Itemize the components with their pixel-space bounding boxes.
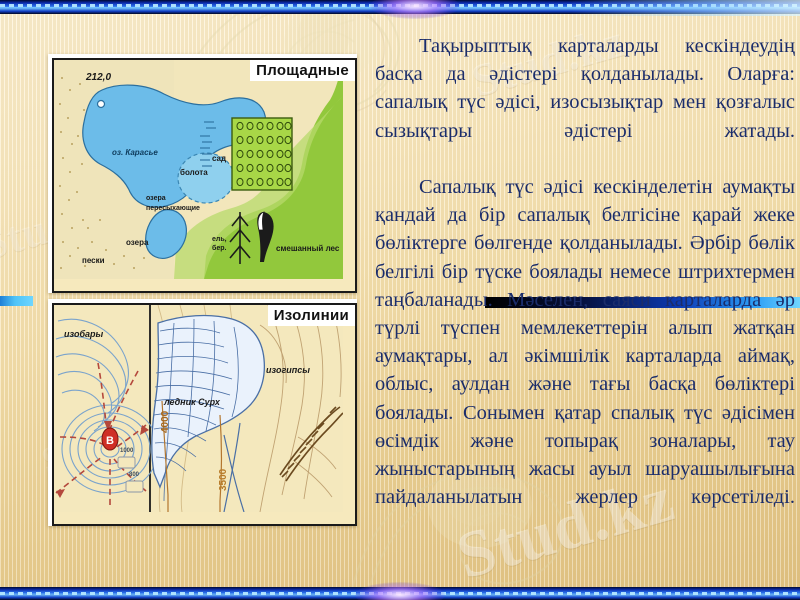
- label-pressure-1000: 1000: [120, 448, 133, 454]
- label-mixed-forest: смешанный лес: [276, 244, 339, 253]
- bottom-accent-dashes: [0, 592, 800, 595]
- slide: Stud.kz Stud.kz Stud.kz Stud.kz Stud.kz: [0, 0, 800, 600]
- figure-area-symbols-caption: Площадные: [250, 60, 355, 81]
- label-lake-karasye: оз. Карасье: [112, 148, 158, 157]
- label-lakes-drying: озера пересыхающие: [146, 194, 200, 214]
- top-accent-sheen: [570, 0, 800, 16]
- figure-isolines-canvas: В: [52, 303, 357, 526]
- label-pressure-800: 800: [129, 472, 139, 478]
- figure-area-symbols: Площадные 212,0 оз. Карасье сад озера пе…: [48, 54, 357, 293]
- label-spruce-birch-text: ель, бер.: [212, 236, 227, 252]
- paragraph-2: Сапалық түс әдісі кескінделетін аумақты …: [375, 173, 795, 540]
- svg-text:В: В: [106, 435, 114, 447]
- label-contour-4000: 4000: [160, 411, 171, 433]
- figure-isolines: В: [48, 299, 357, 526]
- mid-accent-bar-left: [0, 296, 33, 306]
- top-accent-bar: [0, 0, 800, 14]
- paragraph-1: Тақырыптық карталарды кескіндеудің басқа…: [375, 32, 795, 173]
- label-isohypses: изогипсы: [266, 365, 310, 375]
- figure-isolines-caption: Изолинии: [268, 305, 355, 326]
- label-garden: сад: [212, 154, 226, 163]
- label-elevation-point: 212,0: [86, 72, 111, 83]
- label-isobars: изобары: [64, 329, 103, 339]
- label-glacier-surkh: ледник Сурх: [164, 397, 220, 407]
- label-contour-3500: 3500: [218, 469, 229, 491]
- top-accent-dashes: [0, 4, 800, 7]
- body-text-column: Тақырыптық карталарды кескіндеудің басқа…: [375, 32, 795, 540]
- bottom-accent-bar: [0, 587, 800, 600]
- figure-area-symbols-canvas: Площадные 212,0 оз. Карасье сад озера пе…: [52, 58, 357, 293]
- label-spruce-birch: ель, бер.: [212, 235, 227, 253]
- label-sands: пески: [82, 256, 105, 265]
- label-lakes: озера: [126, 238, 148, 247]
- label-swamps: болота: [180, 168, 208, 177]
- label-lakes-drying-text: озера пересыхающие: [146, 195, 200, 212]
